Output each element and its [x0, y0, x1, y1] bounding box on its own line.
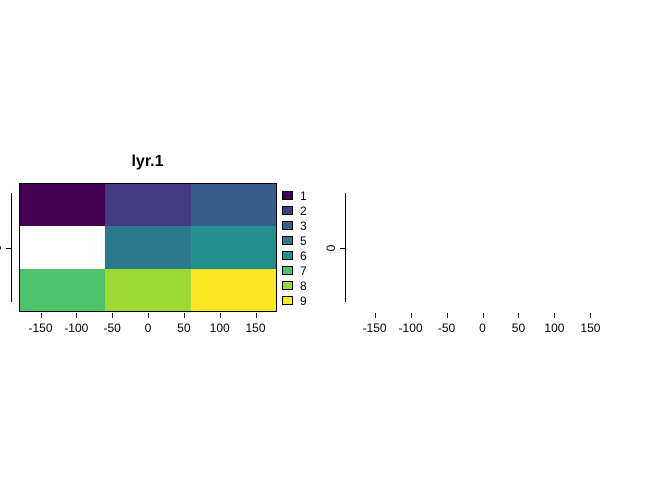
y-axis-line: [345, 193, 346, 302]
y-axis-line: [11, 193, 12, 302]
x-axis-tick: [148, 313, 149, 318]
raster-grid-lyr1: [20, 184, 276, 311]
legend-item-label: 9: [300, 295, 307, 307]
legend-item[interactable]: 1: [282, 188, 307, 203]
x-axis-tick-label: 100: [544, 321, 564, 335]
y-axis-tick: [6, 248, 11, 249]
legend-item[interactable]: 9: [282, 293, 307, 308]
panel-title-lyr1: lyr.1: [19, 152, 276, 172]
legend-color-swatch: [282, 191, 293, 200]
raster-cell: [105, 226, 190, 268]
legend-color-swatch: [282, 206, 293, 215]
legend-item-label: 5: [300, 235, 307, 247]
x-axis-tick-label: 50: [177, 321, 190, 335]
raster-cell: [191, 226, 276, 268]
raster-plot-lyr1[interactable]: [19, 183, 277, 312]
x-axis-tick-label: 0: [145, 321, 152, 335]
raster-cell: [105, 269, 190, 311]
raster-cell: [20, 226, 105, 268]
x-axis-tick-label: 50: [512, 321, 525, 335]
legend-color-swatch: [282, 266, 293, 275]
legend-item-label: 7: [300, 265, 307, 277]
x-axis-tick-label: -50: [103, 321, 120, 335]
x-axis-tick: [518, 313, 519, 318]
legend-item[interactable]: 2: [282, 203, 307, 218]
x-axis-tick: [76, 313, 77, 318]
legend-item-label: 6: [300, 250, 307, 262]
x-axis-tick: [411, 313, 412, 318]
legend-item-label: 2: [300, 205, 307, 217]
x-axis-tick: [184, 313, 185, 318]
legend-color-swatch: [282, 296, 293, 305]
x-axis-tick-label: -50: [438, 321, 455, 335]
legend-color-swatch: [282, 251, 293, 260]
legend-item-label: 8: [300, 280, 307, 292]
legend-item[interactable]: 3: [282, 218, 307, 233]
x-axis-tick: [590, 313, 591, 318]
y-axis-tick: [340, 248, 345, 249]
legend-item-label: 3: [300, 220, 307, 232]
x-axis-tick: [112, 313, 113, 318]
x-axis-tick: [554, 313, 555, 318]
x-axis-tick-label: 0: [479, 321, 486, 335]
raster-cell: [191, 184, 276, 226]
y-axis-tick-label: 0: [0, 242, 3, 254]
legend-color-swatch: [282, 281, 293, 290]
x-axis-tick-label: -150: [363, 321, 387, 335]
raster-cell: [191, 269, 276, 311]
x-axis-tick: [41, 313, 42, 318]
legend-item[interactable]: 6: [282, 248, 307, 263]
x-axis-tick-label: -150: [28, 321, 52, 335]
legend-color-swatch: [282, 236, 293, 245]
legend-item[interactable]: 7: [282, 263, 307, 278]
legend-item[interactable]: 8: [282, 278, 307, 293]
raster-cell: [105, 184, 190, 226]
legend-item-label: 1: [300, 190, 307, 202]
x-axis-tick-label: 150: [245, 321, 265, 335]
raster-cell: [20, 269, 105, 311]
x-axis-tick-label: 150: [580, 321, 600, 335]
raster-cell: [20, 184, 105, 226]
panel-bf-int1: bf_int1 -150-100-50050100150 0 012: [336, 0, 672, 480]
y-axis-tick-label: 0: [325, 242, 337, 254]
x-axis-tick-label: -100: [399, 321, 423, 335]
x-axis-tick: [220, 313, 221, 318]
panel-lyr1: lyr.1 -150-100-50050100150 0 12356789: [0, 0, 336, 480]
legend-lyr1: 12356789: [282, 188, 307, 308]
x-axis-tick: [375, 313, 376, 318]
x-axis-tick: [447, 313, 448, 318]
x-axis-tick: [483, 313, 484, 318]
x-axis-tick-label: 100: [210, 321, 230, 335]
x-axis-tick: [256, 313, 257, 318]
legend-item[interactable]: 5: [282, 233, 307, 248]
legend-color-swatch: [282, 221, 293, 230]
x-axis-tick-label: -100: [64, 321, 88, 335]
